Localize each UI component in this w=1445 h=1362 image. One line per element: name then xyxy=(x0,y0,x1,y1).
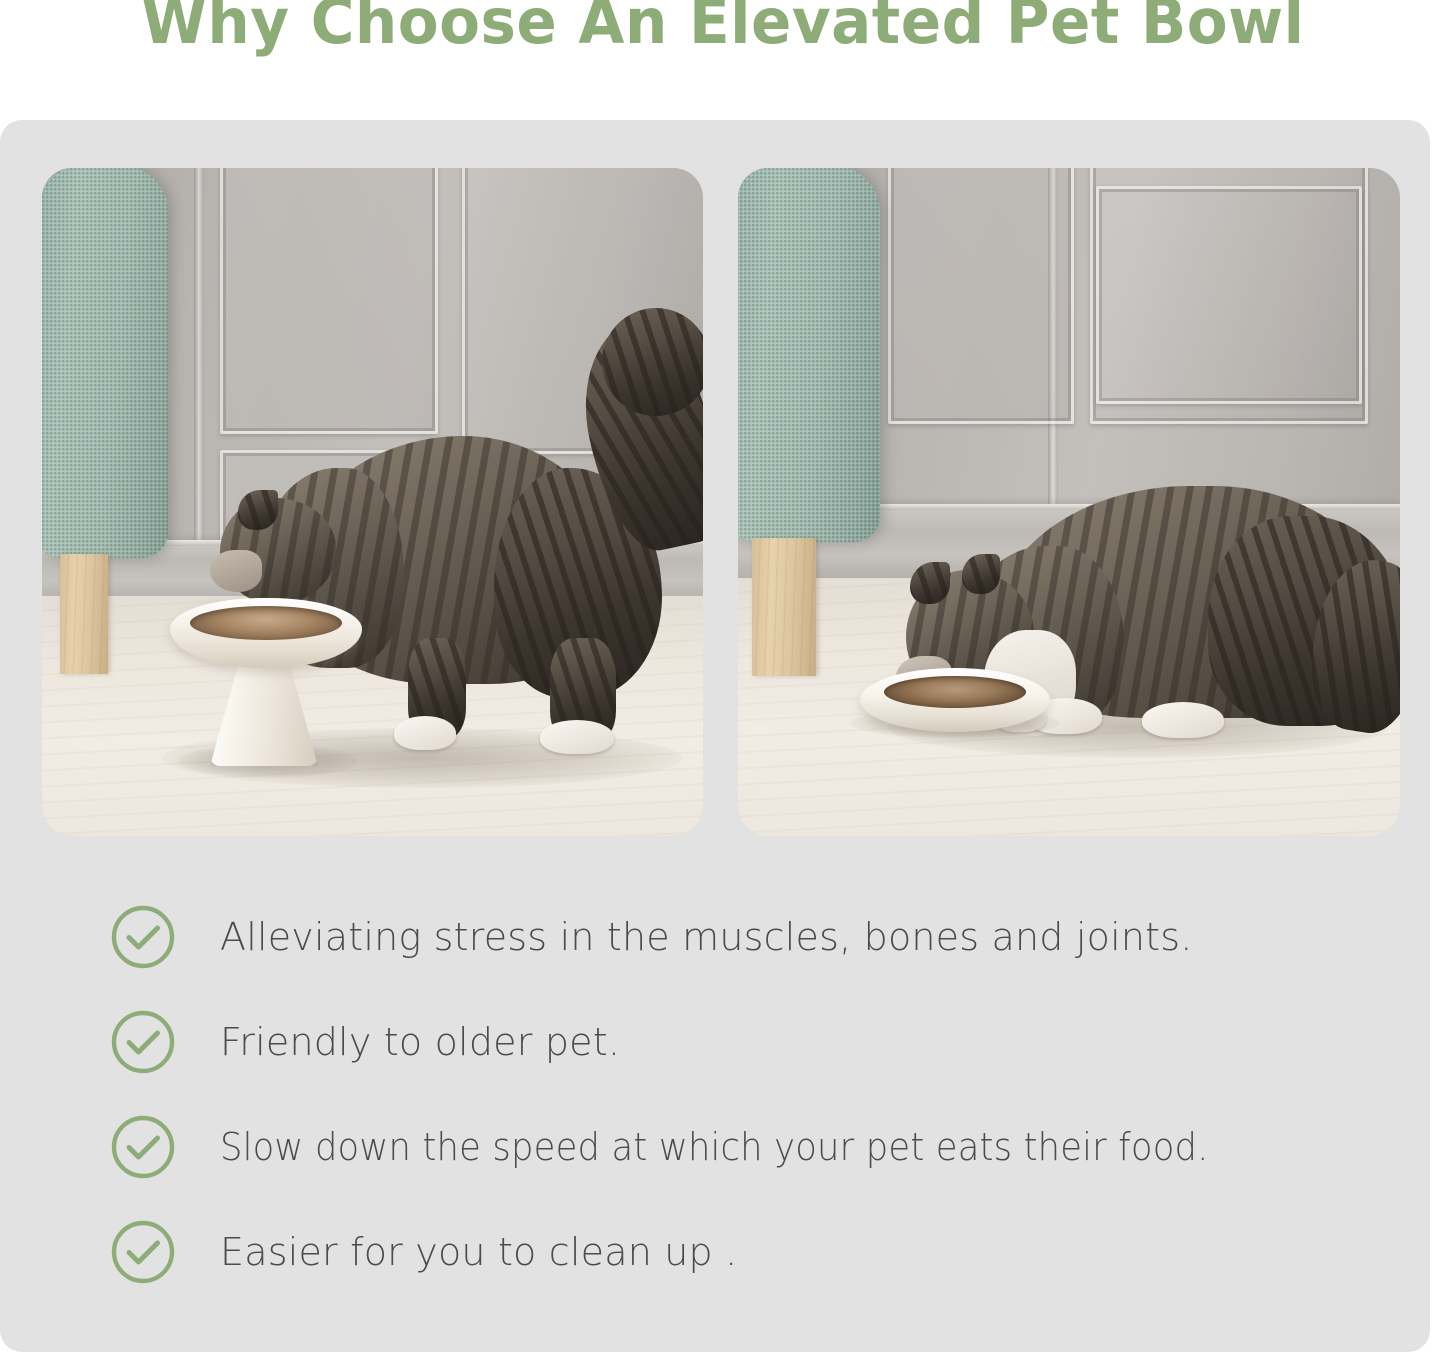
page-title-container: Why Choose An Elevated Pet Bowl xyxy=(0,0,1445,66)
cat-ear xyxy=(238,490,278,530)
flat-bowl-food xyxy=(884,676,1026,708)
benefit-text: Slow down the speed at which your pet ea… xyxy=(220,1124,1209,1170)
comparison-photo-elevated xyxy=(42,168,703,836)
wall-moulding-panel xyxy=(220,168,438,434)
scene-flat xyxy=(738,168,1400,836)
cat-white-paw xyxy=(540,720,614,754)
comparison-photo-flat xyxy=(738,168,1400,836)
cat-tail-tip xyxy=(602,308,703,416)
sofa-upholstery xyxy=(42,168,168,558)
wall-moulding-panel xyxy=(888,168,1074,424)
list-item: Slow down the speed at which your pet ea… xyxy=(0,1094,1430,1199)
sofa-wooden-leg xyxy=(752,538,816,676)
elevated-bowl-food xyxy=(190,606,342,640)
benefit-text: Alleviating stress in the muscles, bones… xyxy=(220,914,1193,960)
cat-white-paw xyxy=(1142,702,1224,738)
cat-muzzle xyxy=(210,550,262,592)
list-item: Alleviating stress in the muscles, bones… xyxy=(0,884,1430,989)
check-circle-icon xyxy=(110,904,176,970)
benefit-text: Friendly to older pet. xyxy=(220,1019,620,1065)
list-item: Easier for you to clean up . xyxy=(0,1199,1430,1304)
scene-elevated xyxy=(42,168,703,836)
cat-ear xyxy=(962,554,1000,594)
list-item: Friendly to older pet. xyxy=(0,989,1430,1094)
check-circle-icon xyxy=(110,1114,176,1180)
cat-white-paw xyxy=(394,716,456,750)
benefit-text: Easier for you to clean up . xyxy=(220,1229,737,1275)
check-circle-icon xyxy=(110,1009,176,1075)
check-circle-icon xyxy=(110,1219,176,1285)
wall-moulding-panel xyxy=(1096,186,1362,404)
benefits-list: Alleviating stress in the muscles, bones… xyxy=(0,884,1430,1304)
page-title: Why Choose An Elevated Pet Bowl xyxy=(141,0,1304,58)
sofa-wooden-leg xyxy=(60,554,108,674)
sofa-upholstery xyxy=(738,168,880,542)
